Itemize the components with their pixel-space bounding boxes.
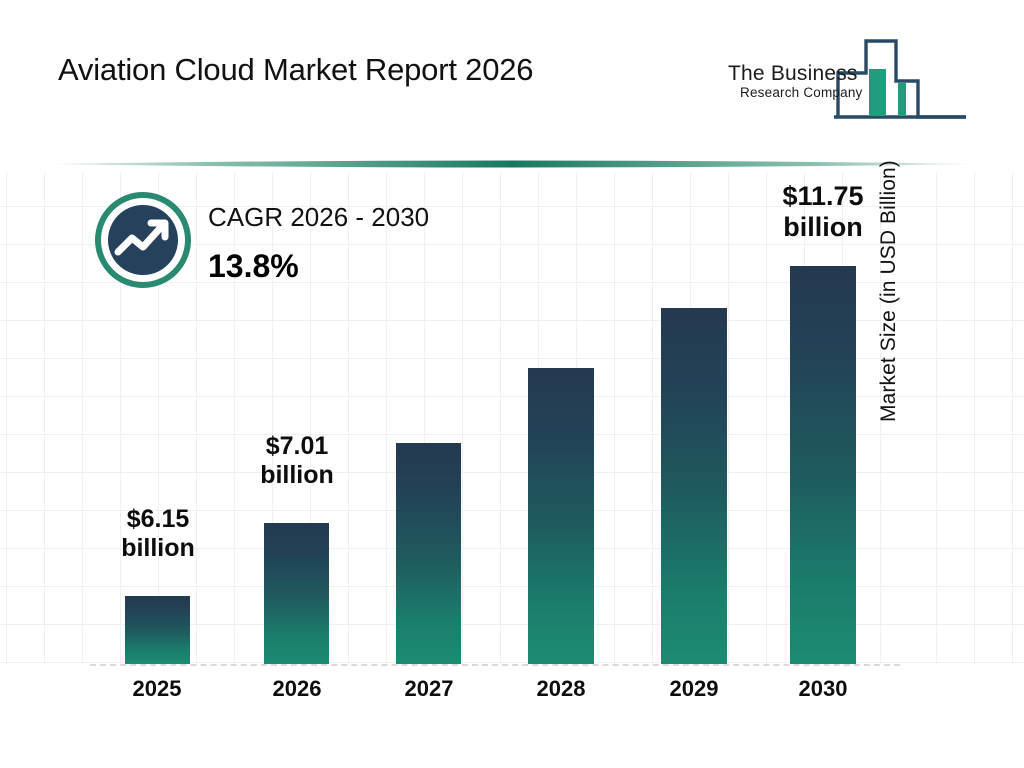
value-label-2025-amount: $6.15 [127,505,190,533]
bar-2027[interactable] [396,443,461,664]
value-label-2026: $7.01 billion [217,432,377,490]
value-label-2030-amount: $11.75 [782,181,863,211]
axis-baseline [90,664,900,666]
bar-chart: $6.15 billion $7.01 billion $11.75 billi… [0,172,1024,768]
logo-text: The Business Research Company [728,63,874,100]
company-logo: The Business Research Company [726,33,966,121]
bar-2030[interactable] [790,266,856,664]
value-label-2025-unit: billion [121,534,195,562]
xtick-2027: 2027 [369,676,489,702]
xtick-2030: 2030 [763,676,883,702]
cagr-badge: CAGR 2026 - 2030 13.8% [95,192,515,317]
logo-line-2: Research Company [740,86,874,100]
cagr-period-label: CAGR 2026 - 2030 [208,202,429,233]
xtick-2025: 2025 [97,676,217,702]
trending-up-icon [95,192,191,288]
value-label-2030-unit: billion [783,212,862,242]
xtick-2028: 2028 [501,676,621,702]
bar-2026[interactable] [264,523,329,664]
xtick-2026: 2026 [237,676,357,702]
bar-2025[interactable] [125,596,190,664]
value-label-2025: $6.15 billion [78,505,238,563]
section-divider [44,156,980,172]
header: Aviation Cloud Market Report 2026 The Bu… [0,0,1024,145]
page-title: Aviation Cloud Market Report 2026 [58,52,533,88]
logo-line-1: The Business [728,63,874,84]
value-label-2026-amount: $7.01 [266,432,329,460]
cagr-value: 13.8% [208,248,299,285]
bar-2028[interactable] [528,368,594,664]
value-label-2026-unit: billion [260,461,334,489]
xtick-2029: 2029 [634,676,754,702]
y-axis-title: Market Size (in USD Billion) [877,42,901,422]
bar-2029[interactable] [661,308,727,664]
